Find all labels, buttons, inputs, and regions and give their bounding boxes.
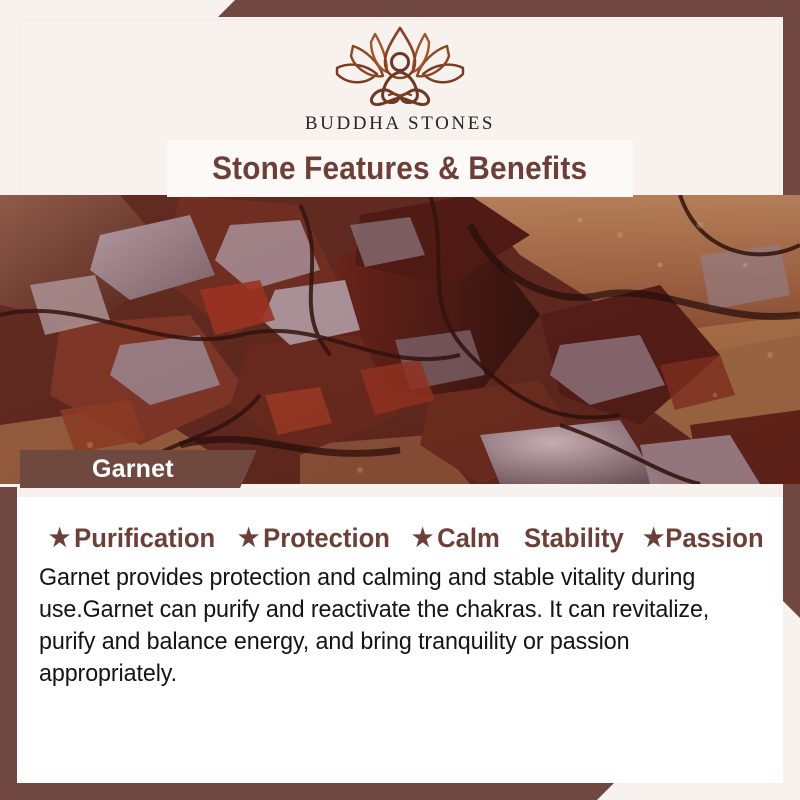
content-card: ★ Purification ★ Protection ★ Calm Stabi… (17, 497, 783, 783)
benefit-label: Passion (666, 523, 764, 554)
frame-band-left (0, 487, 17, 800)
benefit-item: Stability (524, 523, 624, 554)
poster-root: BUDDHA STONES Stone Features & Benefits (0, 0, 800, 800)
star-icon: ★ (238, 526, 259, 551)
benefit-label: Purification (74, 523, 215, 554)
benefit-item: ★ Calm (412, 523, 500, 554)
benefit-item: ★ Protection (238, 523, 390, 554)
benefits-list: ★ Purification ★ Protection ★ Calm Stabi… (49, 523, 761, 554)
lotus-meditation-icon (329, 24, 471, 108)
stone-name: Garnet (92, 455, 174, 484)
brand-wordmark: BUDDHA STONES (305, 113, 495, 135)
page-title: Stone Features & Benefits (212, 150, 587, 187)
stone-name-plate: Garnet (20, 450, 257, 488)
garnet-crystal-photo (0, 195, 800, 484)
star-icon: ★ (49, 526, 70, 551)
benefit-item: ★ Passion (643, 523, 764, 554)
benefit-item: ★ Purification (49, 523, 215, 554)
frame-band-bottom (0, 783, 614, 800)
brand-header: BUDDHA STONES (0, 0, 800, 148)
stone-description: Garnet provides protection and calming a… (39, 562, 739, 690)
star-icon: ★ (643, 526, 664, 551)
benefit-label: Protection (263, 523, 390, 554)
benefit-label: Calm (437, 523, 500, 554)
star-icon: ★ (412, 526, 433, 551)
page-title-band: Stone Features & Benefits (167, 140, 633, 197)
benefit-label: Stability (524, 523, 624, 554)
